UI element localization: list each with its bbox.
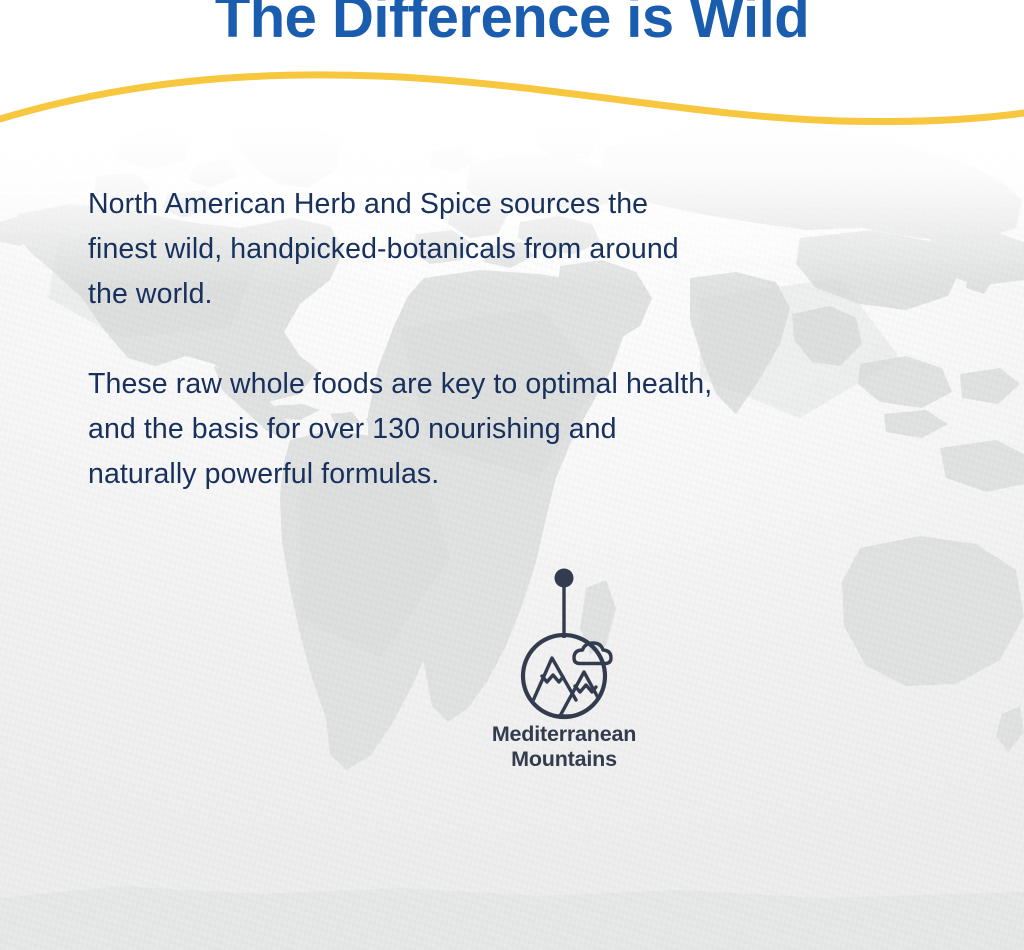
paragraph-2-line-2: and the basis for over 130 nourishing an… (88, 413, 617, 445)
page-title: The Difference is Wild (0, 0, 1024, 51)
paragraph-2-line-3: naturally powerful formulas. (88, 458, 439, 490)
paragraph-1-line-3: the world. (88, 278, 213, 310)
callout-label: Mediterranean Mountains (452, 722, 676, 772)
paragraph-spacer (88, 317, 908, 362)
yellow-swoosh-divider (0, 55, 1024, 135)
paragraph-1-line-1: North American Herb and Spice sources th… (88, 188, 648, 220)
paragraph-1: North American Herb and Spice sources th… (88, 182, 908, 317)
paragraph-2-line-1: These raw whole foods are key to optimal… (88, 368, 712, 400)
map-pin-callout: Mediterranean Mountains (452, 566, 676, 786)
paragraph-2: These raw whole foods are key to optimal… (88, 362, 908, 497)
callout-label-line-1: Mediterranean (492, 722, 636, 746)
paragraph-1-line-2: finest wild, handpicked-botanicals from … (88, 233, 679, 265)
pin-head-dot (555, 569, 574, 588)
body-copy: North American Herb and Spice sources th… (88, 182, 908, 497)
callout-label-line-2: Mountains (511, 747, 617, 771)
mountain-in-circle-map-pin-icon (452, 566, 676, 726)
promo-panel: The Difference is Wild North American He… (0, 0, 1024, 950)
